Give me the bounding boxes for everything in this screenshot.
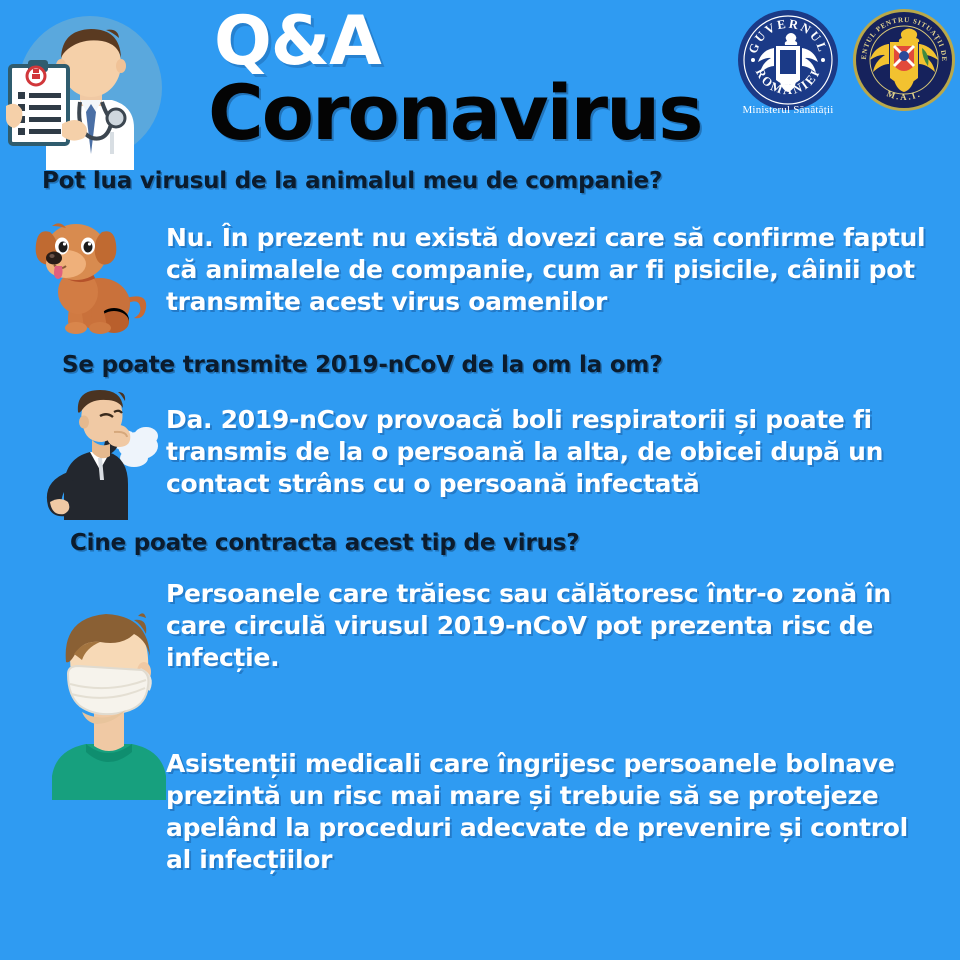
title-block: Q&A Coronavirus <box>208 10 728 149</box>
answer-who-can-catch-healthcare: Asistenții medicali care îngrijesc perso… <box>166 748 938 876</box>
question-pets: Pot lua virusul de la animalul meu de co… <box>42 168 662 194</box>
answer-who-can-catch-travelers: Persoanele care trăiesc sau călătoresc î… <box>166 578 930 674</box>
gov-logo-caption: Ministerul Sănătății <box>724 104 852 116</box>
answer-pets: Nu. În prezent nu există dovezi care să … <box>166 222 950 318</box>
infographic-poster: Q&A Coronavirus GUVERNUL ROMÂNIEI <box>0 0 960 960</box>
doctor-with-clipboard-illustration <box>6 8 174 170</box>
poster-header: Q&A Coronavirus GUVERNUL ROMÂNIEI <box>0 0 960 170</box>
departamentul-situatii-urgenta-emblem: DEPARTAMENTUL PENTRU SITUAȚII DE URGENȚĂ… <box>852 8 956 112</box>
guvernul-romaniei-emblem: GUVERNUL ROMÂNIEI <box>736 8 840 138</box>
dog-illustration <box>22 212 158 340</box>
page-title-qa: Q&A <box>214 10 728 75</box>
page-title-coronavirus: Coronavirus <box>208 77 728 149</box>
masked-person-illustration <box>38 600 180 800</box>
answer-human-to-human: Da. 2019-nCov provoacă boli respiratorii… <box>166 404 934 500</box>
question-human-to-human: Se poate transmite 2019-nCoV de la om la… <box>62 352 662 378</box>
logo-group: GUVERNUL ROMÂNIEI <box>724 4 956 144</box>
coughing-man-illustration <box>34 388 172 520</box>
question-who-can-catch: Cine poate contracta acest tip de virus? <box>70 530 579 556</box>
